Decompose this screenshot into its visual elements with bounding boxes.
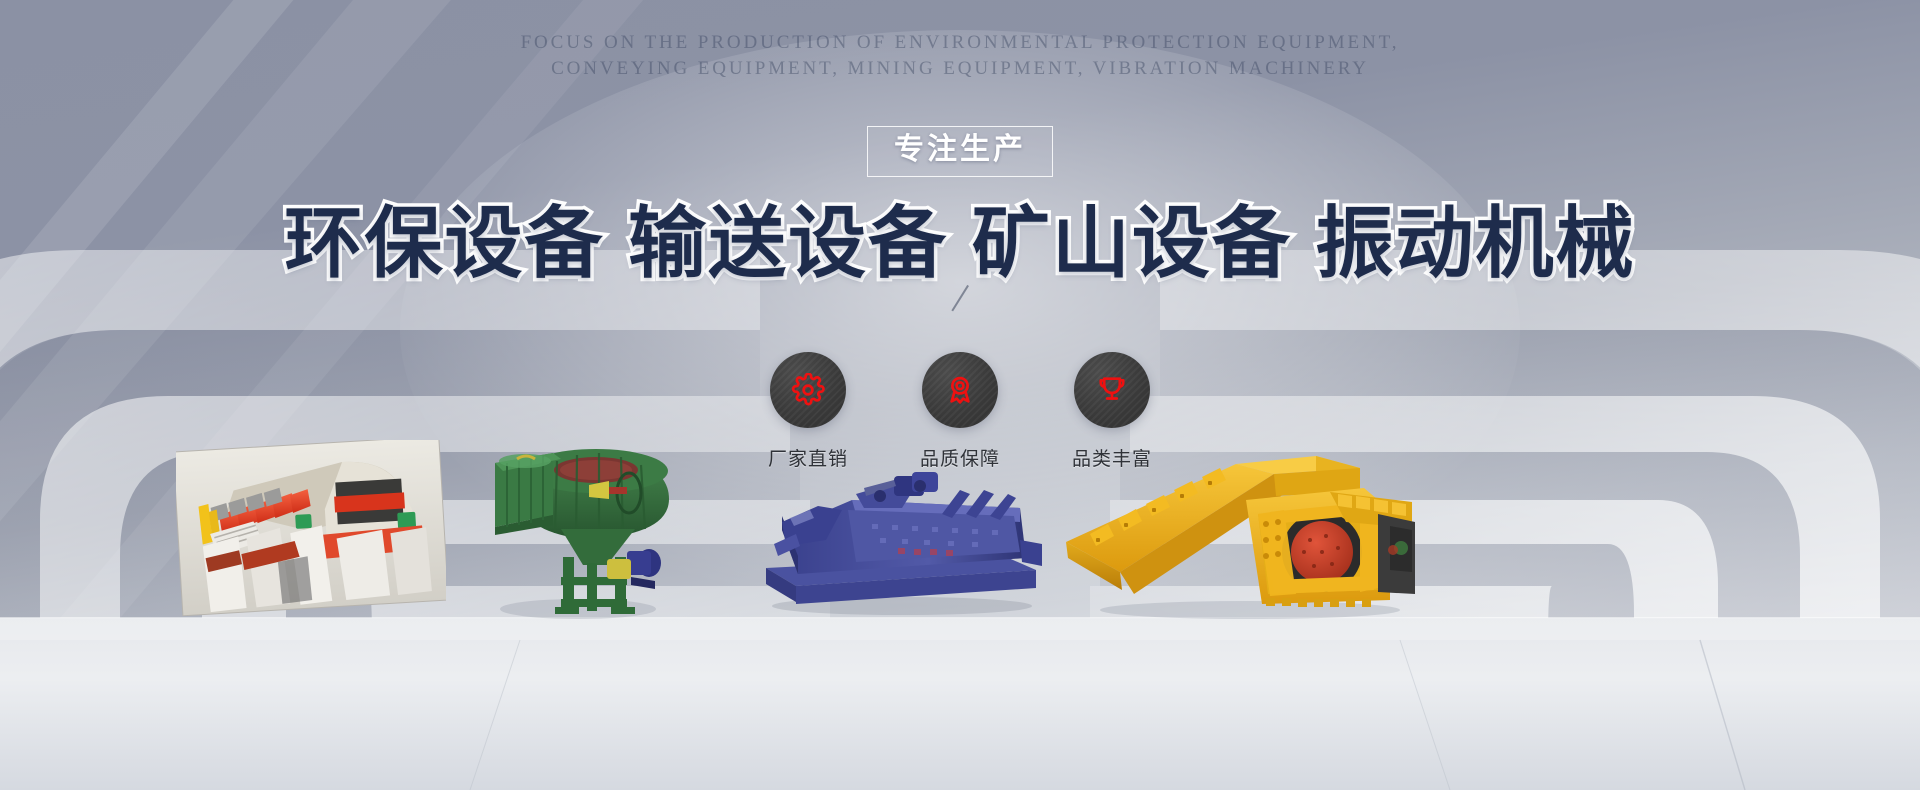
- hero-banner: FOCUS ON THE PRODUCTION OF ENVIRONMENTAL…: [0, 0, 1920, 790]
- medal-icon: [922, 352, 998, 428]
- machine-image-yellow-jaw-crusher: 振动机械 - 黄色颚式破碎机: [1060, 452, 1415, 622]
- trophy-icon: [1074, 352, 1150, 428]
- feature-item-quality-guarantee[interactable]: 品质保障: [910, 352, 1010, 471]
- machine-image-green-disc-feeder: 输送设备 - 绿色圆盘给料机: [483, 437, 678, 620]
- feature-label: 厂家直销: [768, 444, 848, 471]
- english-tagline: FOCUS ON THE PRODUCTION OF ENVIRONMENTAL…: [0, 30, 1920, 82]
- decorative-tick-icon: [952, 310, 978, 336]
- machine-image-blue-vibrating-screen: 矿山设备 - 蓝色振动筛: [752, 470, 1042, 615]
- feature-label: 品质保障: [920, 444, 1000, 471]
- feature-item-factory-direct[interactable]: 厂家直销: [758, 352, 858, 471]
- headline: 环保设备 输送设备 矿山设备 振动机械: [0, 200, 1920, 287]
- machine-image-sintering-conveyor: 环保设备 - 白色红色烧结输送设备: [176, 440, 446, 618]
- gear-icon: [770, 352, 846, 428]
- focus-badge: 专注生产: [867, 126, 1053, 177]
